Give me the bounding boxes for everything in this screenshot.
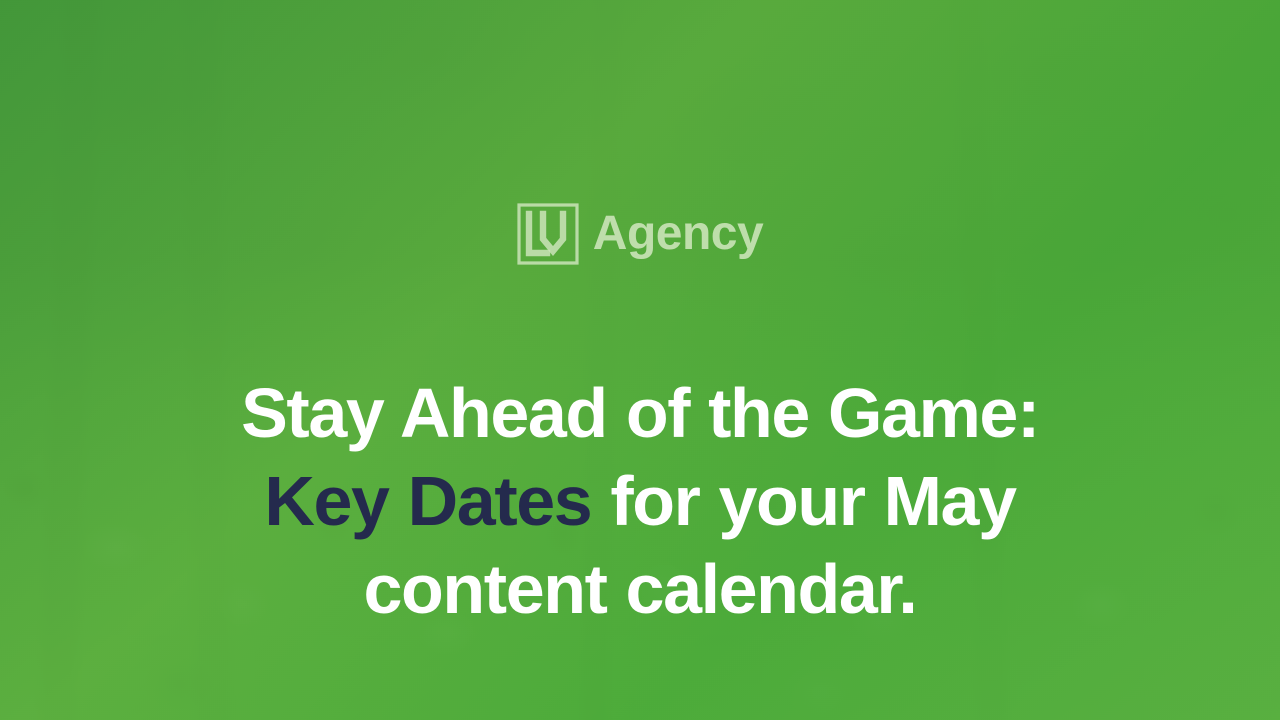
social-graphic-canvas: Agency Stay Ahead of the Game: Key Dates…: [0, 0, 1280, 720]
headline: Stay Ahead of the Game: Key Dates for yo…: [170, 369, 1110, 633]
lm-square-speech-bubble-icon: [517, 203, 579, 265]
content-layer: Agency Stay Ahead of the Game: Key Dates…: [0, 0, 1280, 720]
brand-logo-lockup: Agency: [0, 203, 1280, 265]
headline-segment-accent: Key Dates: [264, 462, 591, 540]
headline-segment-1: Stay Ahead of the Game:: [241, 374, 1039, 452]
brand-wordmark: Agency: [593, 210, 763, 258]
